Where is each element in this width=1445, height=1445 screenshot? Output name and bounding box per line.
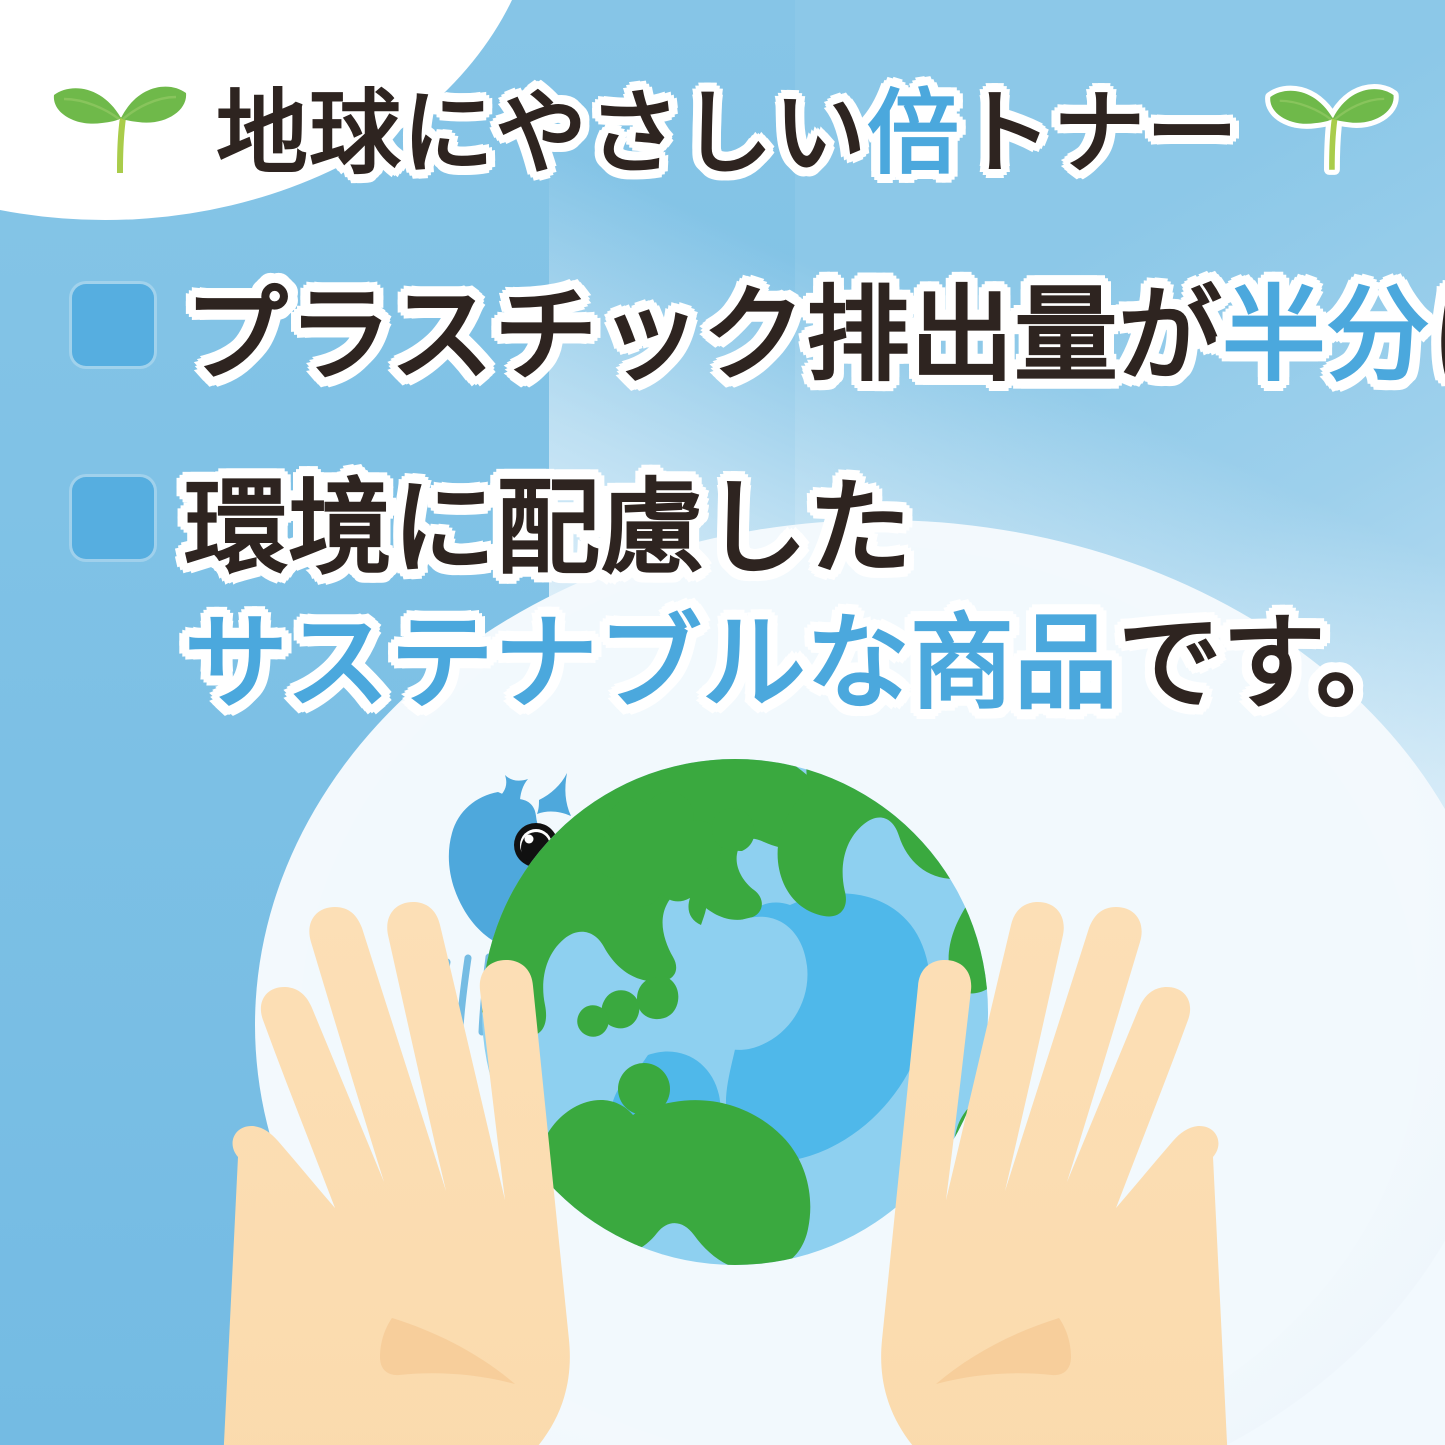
feature-item-1-text: プラスチック排出量が半分に!: [184, 268, 1445, 403]
feature-item-2-text: 環境に配慮した サステナブルな商品です。: [184, 461, 1420, 731]
feature-2-line-2: サステナブルな商品です。: [184, 596, 1420, 731]
title-part-3: トナー: [960, 80, 1239, 187]
feature-list: プラスチック排出量が半分に! 環境に配慮した サステナブルな商品です。: [0, 268, 1445, 732]
feature-item-1: プラスチック排出量が半分に!: [0, 268, 1445, 403]
title-part-1: 地球にやさしい: [216, 80, 867, 187]
bullet-square-icon: [72, 284, 154, 366]
header-banner: 地球にやさしい倍トナー: [0, 60, 1445, 190]
feature-2-line-1: 環境に配慮した: [184, 461, 1420, 596]
feature-1-seg-3: に!: [1430, 274, 1445, 396]
feature-item-2: 環境に配慮した サステナブルな商品です。: [0, 461, 1445, 731]
sprout-icon: [44, 65, 194, 185]
feature-2-seg-2: です。: [1118, 602, 1420, 724]
feature-2-seg-accent: サステナブルな商品: [184, 602, 1118, 724]
feature-1-seg-accent: 半分: [1222, 274, 1430, 396]
sprout-icon: [1261, 69, 1401, 181]
feature-1-seg-1: プラスチック排出量が: [184, 274, 1222, 396]
page-title: 地球にやさしい倍トナー: [216, 59, 1239, 192]
poster-canvas: 地球にやさしい倍トナー プラスチック排出量が半分に! 環境に: [0, 0, 1445, 1445]
title-part-accent: 倍: [867, 80, 960, 187]
bullet-square-icon: [72, 477, 154, 559]
